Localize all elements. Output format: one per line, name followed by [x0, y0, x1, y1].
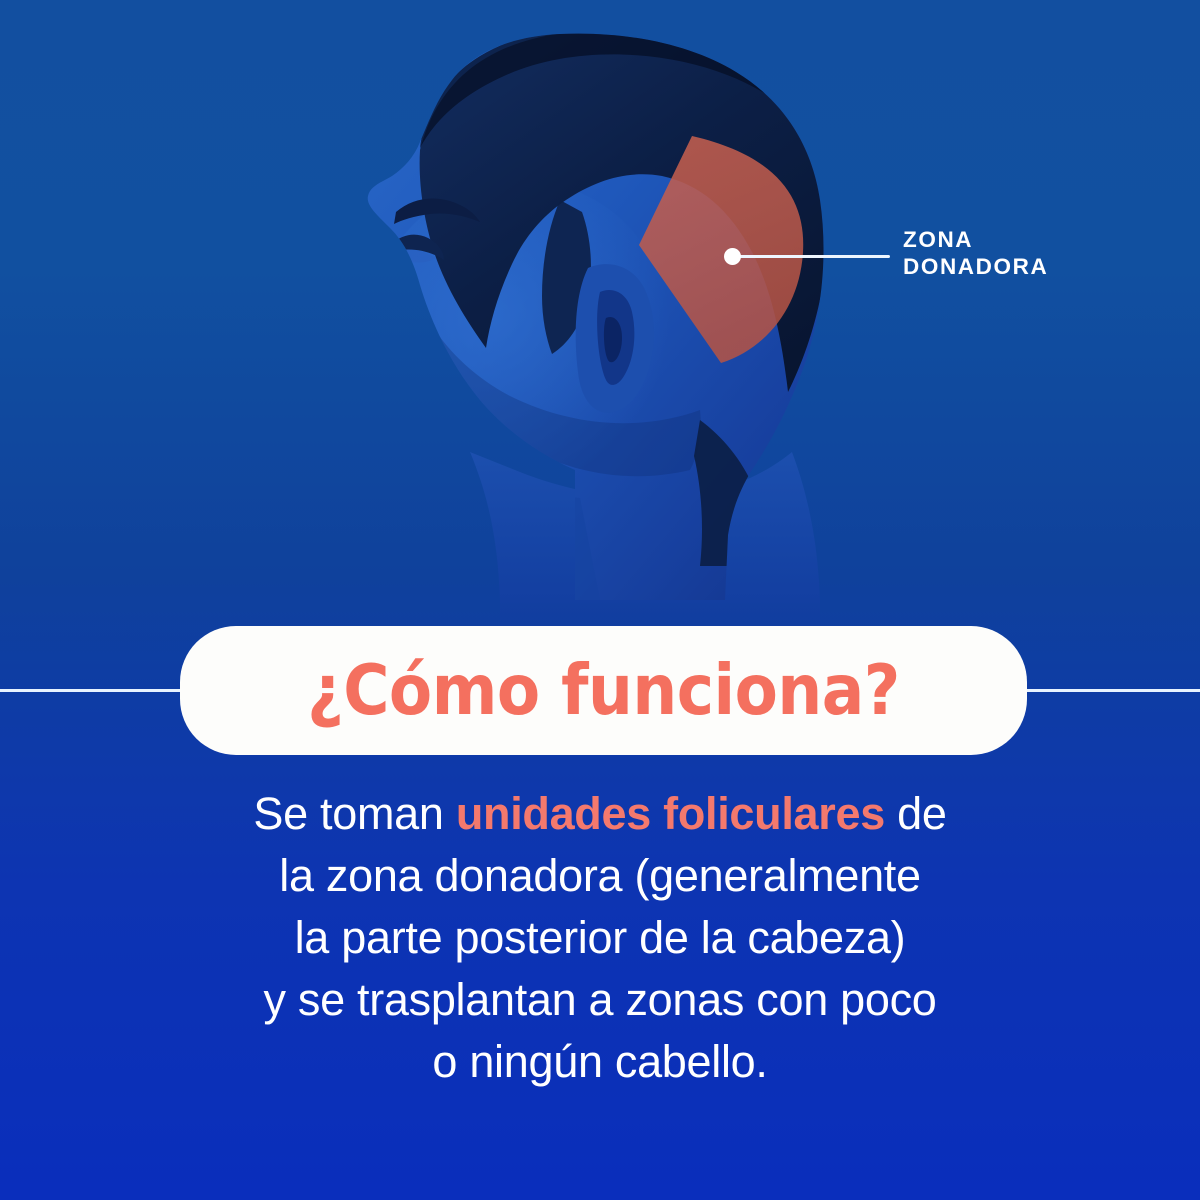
- body-text: y se trasplantan a zonas con poco: [263, 974, 936, 1025]
- chin-shadow: [372, 436, 424, 455]
- body-text: la parte posterior de la cabeza): [295, 912, 906, 963]
- divider-rule-left: [0, 689, 182, 692]
- divider-rule-right: [1025, 689, 1200, 692]
- title-pill: ¿Cómo funciona?: [180, 626, 1027, 755]
- page-title: ¿Cómo funciona?: [307, 650, 900, 730]
- profile-photo-illustration: [0, 0, 1200, 660]
- body-line: la zona donadora (generalmente: [0, 845, 1200, 907]
- body-text: la zona donadora (generalmente: [279, 850, 920, 901]
- nostril: [366, 348, 393, 365]
- callout-dot: [724, 248, 741, 265]
- body-text: o ningún cabello.: [432, 1036, 767, 1087]
- body-line: Se toman unidades foliculares de: [0, 783, 1200, 845]
- profile-photo: [0, 0, 1200, 660]
- donor-zone-label: ZONA DONADORA: [903, 226, 1048, 280]
- nose-shading: [364, 272, 392, 369]
- body-line: y se trasplantan a zonas con poco: [0, 969, 1200, 1031]
- body-highlight: unidades foliculares: [456, 788, 885, 839]
- body-line: la parte posterior de la cabeza): [0, 907, 1200, 969]
- body-text: Se toman: [253, 788, 455, 839]
- callout-leader-line: [738, 255, 890, 258]
- body-line: o ningún cabello.: [0, 1031, 1200, 1093]
- lower-lip: [374, 411, 416, 421]
- body-text: de: [885, 788, 947, 839]
- upper-lip: [372, 397, 414, 406]
- body-paragraph: Se toman unidades foliculares dela zona …: [0, 783, 1200, 1093]
- infographic-card: ZONA DONADORA ¿Cómo funciona? Se toman u…: [0, 0, 1200, 1200]
